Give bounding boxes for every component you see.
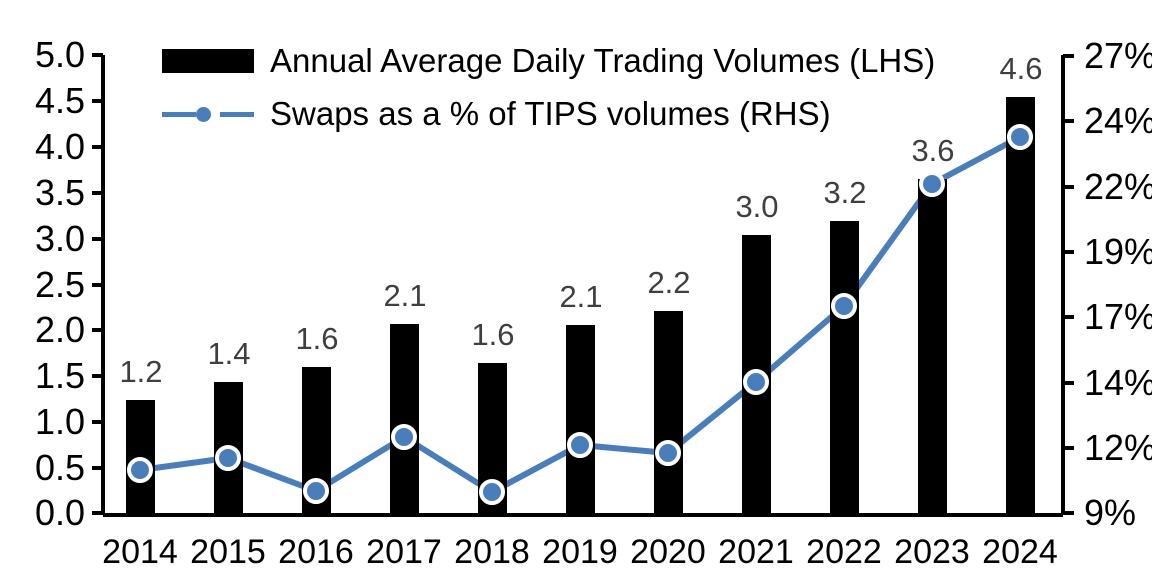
right-axis-tick-27pct: 27%	[1084, 38, 1152, 74]
bar-label-2021: 3.0	[716, 191, 798, 222]
line-marker-2017	[391, 424, 417, 450]
left-axis-tick-5.0: 5.0	[5, 37, 85, 73]
bar-label-2020: 2.2	[628, 267, 710, 298]
bar-label-2019: 2.1	[540, 281, 622, 312]
bar-2017	[390, 324, 419, 513]
x-axis-label-2014: 2014	[96, 535, 184, 569]
line-marker-2019	[567, 432, 593, 458]
chart-container: 1.2 1.4 1.6 2.1 1.6 2.1 2.2 3.0 3.2 3.6 …	[0, 0, 1152, 584]
left-axis-tick-4.5: 4.5	[5, 83, 85, 119]
x-axis-label-2015: 2015	[184, 535, 272, 569]
bar-label-2014: 1.2	[100, 356, 182, 387]
x-axis-label-2019: 2019	[536, 535, 624, 569]
right-axis	[1063, 55, 1074, 515]
x-axis-label-2020: 2020	[624, 535, 712, 569]
line-marker-2023	[919, 171, 945, 197]
x-axis-label-2024: 2024	[976, 535, 1064, 569]
bar-label-2017: 2.1	[364, 280, 446, 311]
right-axis-tick-14pct: 14%	[1084, 365, 1152, 401]
line-marker-2024	[1007, 124, 1033, 150]
x-axis-label-2017: 2017	[360, 535, 448, 569]
legend-line-dot-swatch-icon	[162, 102, 254, 126]
bar-2019	[566, 325, 595, 513]
left-axis-tick-4.0: 4.0	[5, 129, 85, 165]
left-axis-tick-3.0: 3.0	[5, 221, 85, 257]
bar-2024	[1006, 97, 1035, 513]
bar-label-2018: 1.6	[452, 319, 534, 350]
right-axis-tick-24pct: 24%	[1084, 103, 1152, 139]
left-axis-tick-1.0: 1.0	[5, 404, 85, 440]
left-axis-tick-2.5: 2.5	[5, 267, 85, 303]
right-axis-tick-9pct: 9%	[1084, 495, 1152, 531]
left-axis-tick-0.5: 0.5	[5, 450, 85, 486]
bar-label-2016: 1.6	[276, 323, 358, 354]
bar-label-2024: 4.6	[980, 53, 1062, 84]
legend-bar-swatch-icon	[162, 49, 254, 73]
line-marker-2018	[479, 479, 505, 505]
left-axis-tick-2.0: 2.0	[5, 312, 85, 348]
right-axis-tick-17pct: 17%	[1084, 299, 1152, 335]
left-axis	[92, 55, 103, 515]
left-axis-tick-3.5: 3.5	[5, 175, 85, 211]
line-marker-2016	[303, 478, 329, 504]
bar-2023	[918, 179, 947, 513]
x-axis-label-2016: 2016	[272, 535, 360, 569]
legend-entry-volumes[interactable]: Annual Average Daily Trading Volumes (LH…	[162, 44, 935, 77]
legend-label-swaps-pct: Swaps as a % of TIPS volumes (RHS)	[270, 97, 831, 130]
right-axis-tick-12pct: 12%	[1084, 430, 1152, 466]
bar-label-2023: 3.6	[892, 135, 974, 166]
bar-2022	[830, 221, 859, 513]
x-axis-label-2018: 2018	[448, 535, 536, 569]
left-axis-tick-1.5: 1.5	[5, 358, 85, 394]
legend-entry-swaps-pct[interactable]: Swaps as a % of TIPS volumes (RHS)	[162, 97, 831, 130]
x-axis-label-2022: 2022	[800, 535, 888, 569]
right-axis-tick-22pct: 22%	[1084, 169, 1152, 205]
bar-2020	[654, 311, 683, 513]
left-axis-tick-0.0: 0.0	[5, 495, 85, 531]
line-marker-2021	[743, 369, 769, 395]
bar-label-2015: 1.4	[188, 338, 270, 369]
line-marker-2015	[215, 445, 241, 471]
bar-label-2022: 3.2	[804, 177, 886, 208]
line-marker-2014	[127, 457, 153, 483]
right-axis-tick-19pct: 19%	[1084, 234, 1152, 270]
x-axis-label-2021: 2021	[712, 535, 800, 569]
x-axis-label-2023: 2023	[888, 535, 976, 569]
legend-label-volumes: Annual Average Daily Trading Volumes (LH…	[270, 44, 935, 77]
line-marker-2022	[831, 293, 857, 319]
line-marker-2020	[655, 440, 681, 466]
